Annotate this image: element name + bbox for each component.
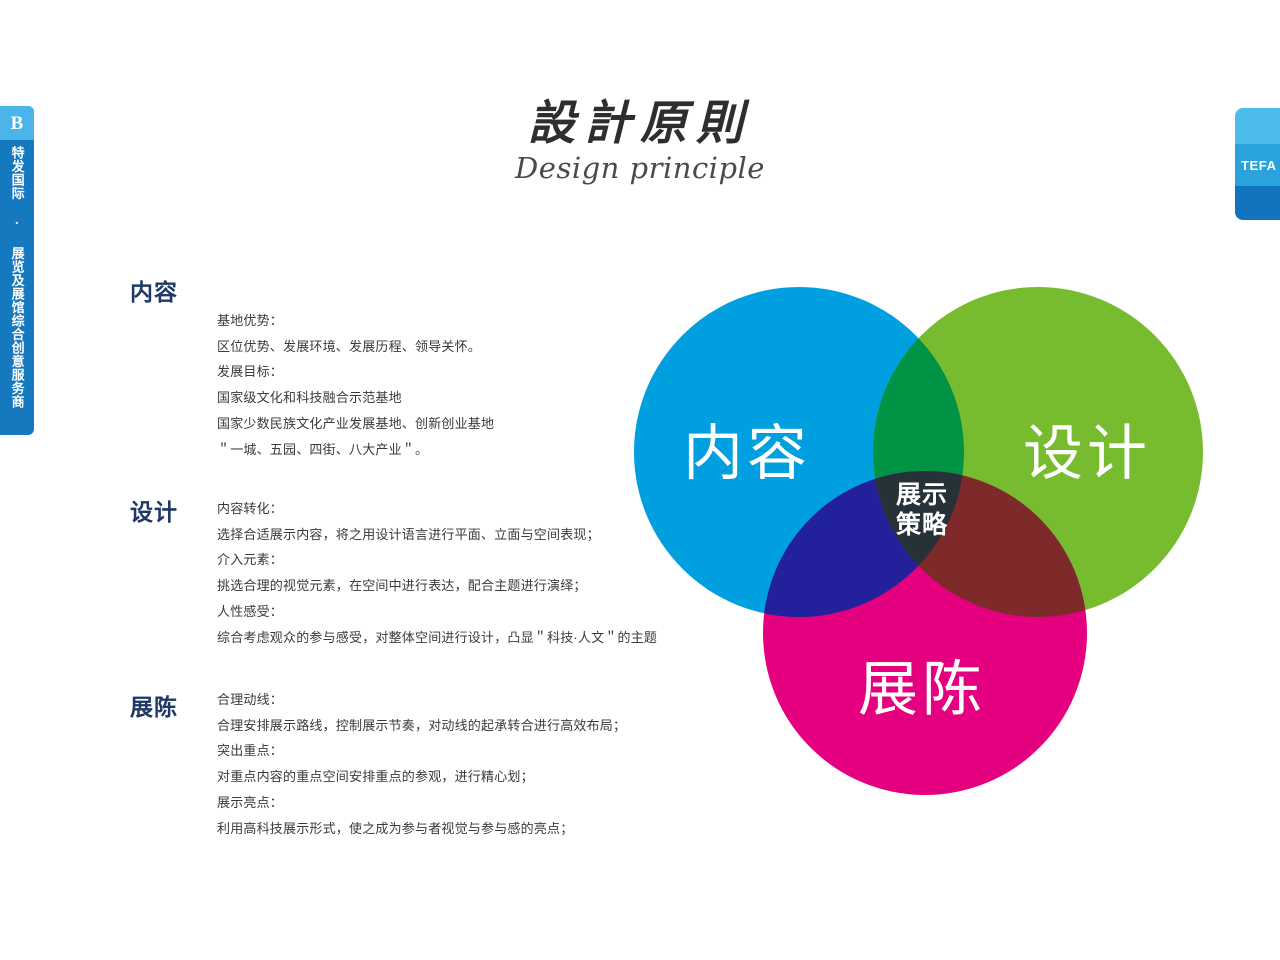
text-line: 发展目标：	[217, 359, 494, 385]
section-content-heading: 内容	[130, 280, 204, 305]
venn-label-content: 内容	[683, 420, 811, 487]
section-exhibit-heading: 展陈	[130, 695, 204, 720]
content-sections: 内容 基地优势： 区位优势、发展环境、发展历程、领导关怀。 发展目标： 国家级文…	[0, 0, 700, 960]
logo-band-bottom	[1235, 186, 1280, 220]
venn-center-label-line1: 展示	[896, 481, 948, 509]
section-design-lines: 内容转化： 选择合适展示内容，将之用设计语言进行平面、立面与空间表现； 介入元素…	[217, 496, 657, 650]
venn-center-label-line2: 策略	[896, 510, 948, 539]
text-line: 合理安排展示路线，控制展示节奏，对动线的起承转合进行高效布局；	[217, 713, 626, 739]
venn-label-exhibit: 展陈	[858, 656, 986, 723]
text-line: 基地优势：	[217, 308, 494, 334]
section-exhibit-lines: 合理动线： 合理安排展示路线，控制展示节奏，对动线的起承转合进行高效布局； 突出…	[217, 687, 626, 841]
text-line: 突出重点：	[217, 738, 626, 764]
venn-label-design: 设计	[1023, 420, 1151, 487]
text-line: 选择合适展示内容，将之用设计语言进行平面、立面与空间表现；	[217, 522, 657, 548]
text-line: 综合考虑观众的参与感受，对整体空间进行设计，凸显＂科技·人文＂的主题	[217, 625, 657, 651]
text-line: ＂一城、五园、四街、八大产业＂。	[217, 437, 494, 463]
text-line: 内容转化：	[217, 496, 657, 522]
text-line: 介入元素：	[217, 547, 657, 573]
text-line: 人性感受：	[217, 599, 657, 625]
text-line: 国家级文化和科技融合示范基地	[217, 385, 494, 411]
text-line: 展示亮点：	[217, 790, 626, 816]
section-content-lines: 基地优势： 区位优势、发展环境、发展历程、领导关怀。 发展目标： 国家级文化和科…	[217, 308, 494, 462]
text-line: 对重点内容的重点空间安排重点的参观，进行精心划；	[217, 764, 626, 790]
text-line: 利用高科技展示形式，使之成为参与者视觉与参与感的亮点；	[217, 816, 626, 842]
text-line: 挑选合理的视觉元素，在空间中进行表达，配合主题进行演绎；	[217, 573, 657, 599]
section-design-heading: 设计	[130, 500, 204, 525]
text-line: 合理动线：	[217, 687, 626, 713]
text-line: 国家少数民族文化产业发展基地、创新创业基地	[217, 411, 494, 437]
text-line: 区位优势、发展环境、发展历程、领导关怀。	[217, 334, 494, 360]
venn-diagram: 内容 设计 展陈 展示 策略	[600, 250, 1260, 850]
